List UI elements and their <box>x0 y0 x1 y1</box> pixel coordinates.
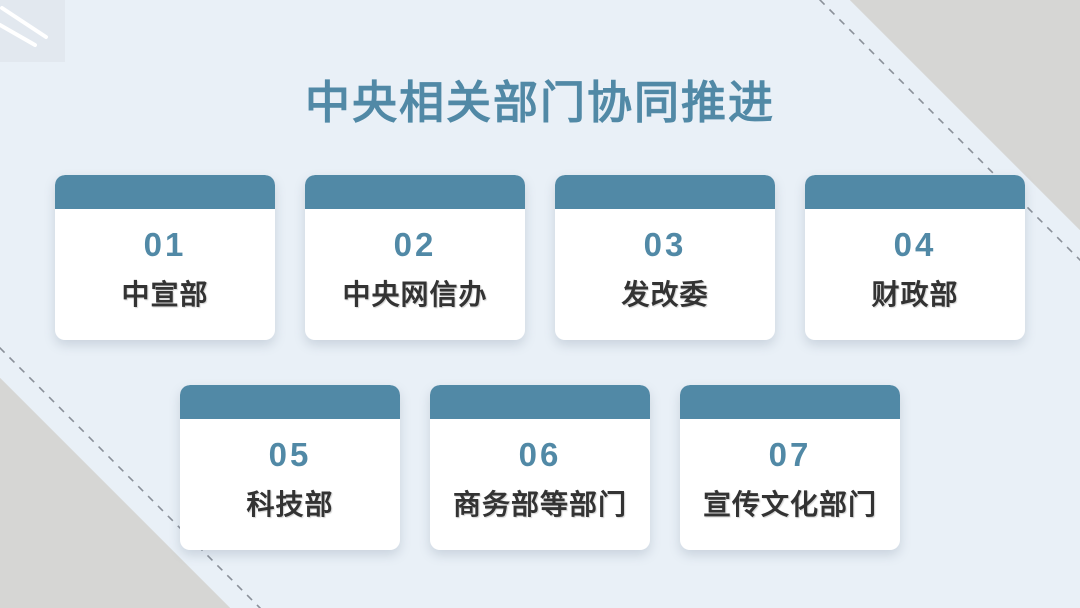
card-header-bar <box>180 385 400 419</box>
card-header-bar <box>55 175 275 209</box>
department-card[interactable]: 05 科技部 <box>180 385 400 550</box>
card-header-bar <box>680 385 900 419</box>
department-card[interactable]: 06 商务部等部门 <box>430 385 650 550</box>
card-number: 04 <box>894 228 937 261</box>
card-number: 02 <box>394 228 437 261</box>
card-number: 06 <box>519 438 562 471</box>
top-left-square-decoration <box>0 0 65 62</box>
department-card[interactable]: 04 财政部 <box>805 175 1025 340</box>
card-number: 01 <box>144 228 187 261</box>
card-row-top: 01 中宣部 02 中央网信办 03 发改委 04 财政部 <box>0 175 1080 340</box>
card-label: 宣传文化部门 <box>703 490 877 521</box>
card-header-bar <box>555 175 775 209</box>
card-row-bottom: 05 科技部 06 商务部等部门 07 宣传文化部门 <box>0 385 1080 550</box>
page-title: 中央相关部门协同推进 <box>0 78 1080 128</box>
card-label: 中央网信办 <box>342 280 487 311</box>
card-label: 科技部 <box>246 490 333 521</box>
card-label: 发改委 <box>621 280 708 311</box>
card-label: 中宣部 <box>121 280 208 311</box>
slide-canvas: 中央相关部门协同推进 01 中宣部 02 中央网信办 03 发改委 04 财政部… <box>0 0 1080 608</box>
department-card[interactable]: 02 中央网信办 <box>305 175 525 340</box>
card-label: 商务部等部门 <box>453 490 627 521</box>
card-label: 财政部 <box>871 280 958 311</box>
card-number: 07 <box>769 438 812 471</box>
card-header-bar <box>805 175 1025 209</box>
card-header-bar <box>305 175 525 209</box>
department-card[interactable]: 03 发改委 <box>555 175 775 340</box>
top-left-diagonal-lines-icon <box>0 0 70 66</box>
department-card[interactable]: 07 宣传文化部门 <box>680 385 900 550</box>
card-header-bar <box>430 385 650 419</box>
card-number: 03 <box>644 228 687 261</box>
department-card[interactable]: 01 中宣部 <box>55 175 275 340</box>
card-number: 05 <box>269 438 312 471</box>
